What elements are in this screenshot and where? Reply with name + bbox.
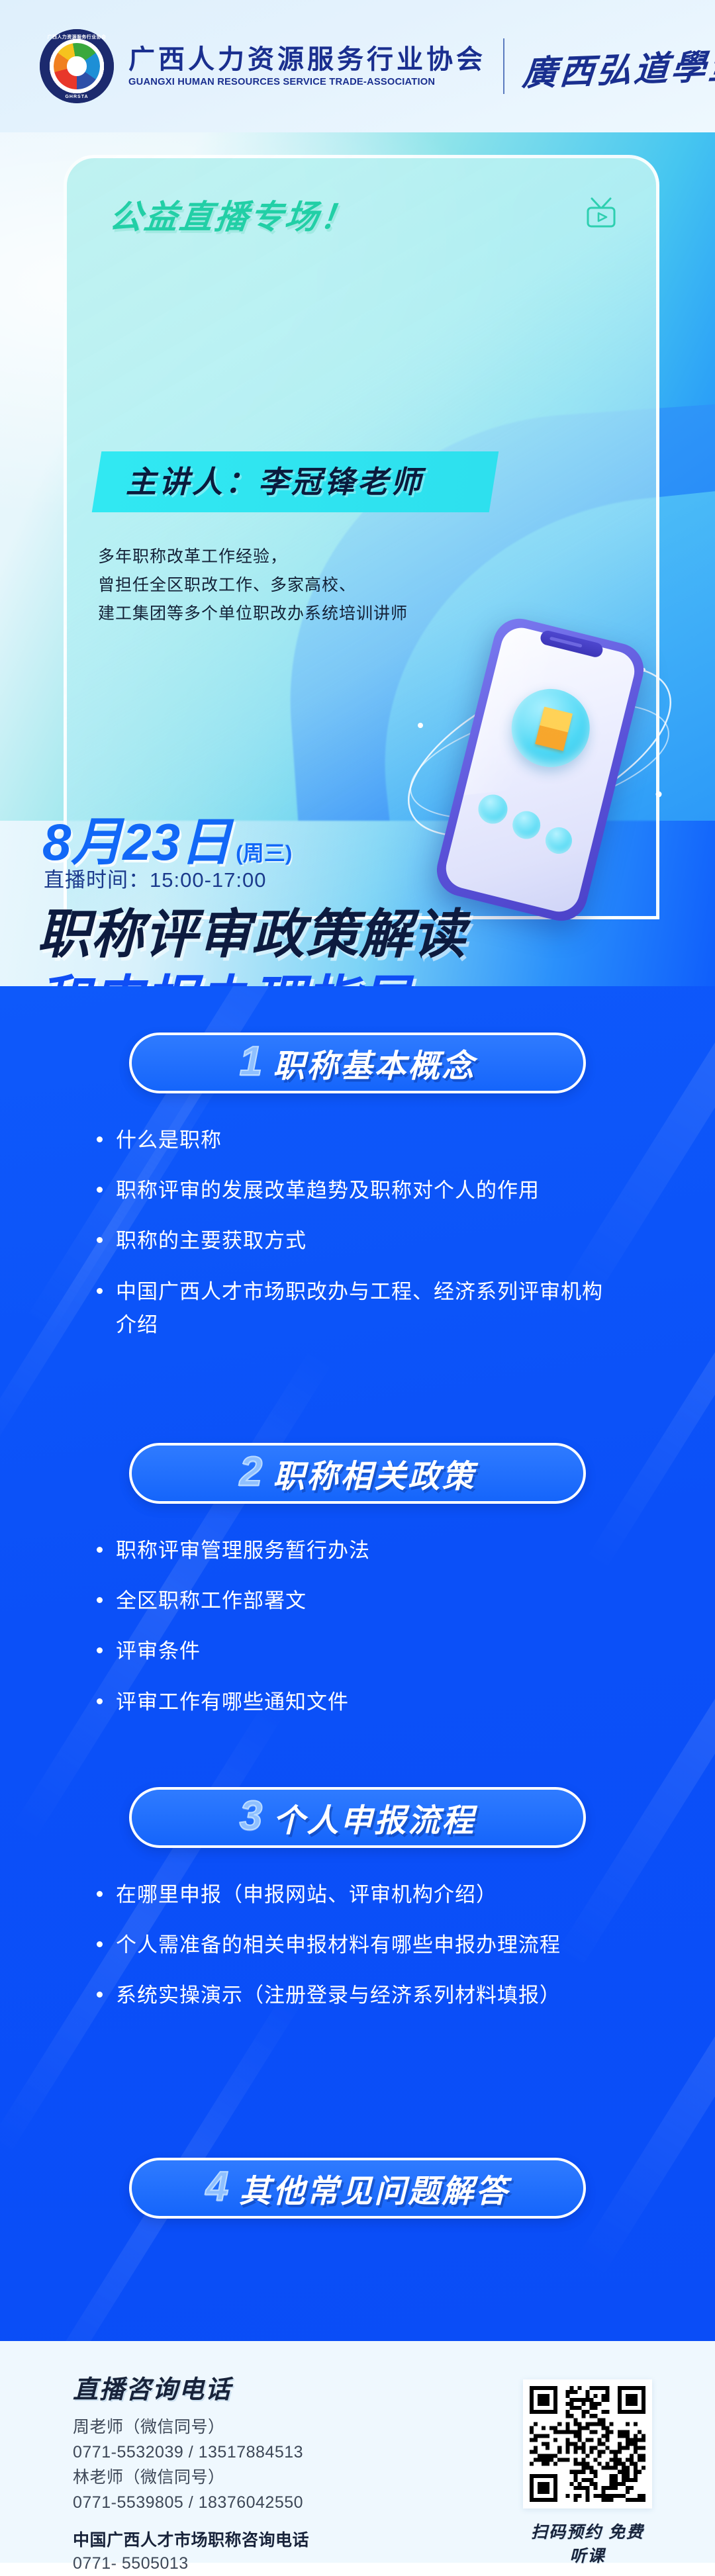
tv-broadcast-icon bbox=[583, 196, 620, 230]
agenda-section: 2职称相关政策职称评审管理服务暂行办法全区职称工作部署文评审条件评审工作有哪些通… bbox=[0, 1443, 715, 1736]
list-item: 什么是职称 bbox=[97, 1124, 629, 1157]
section-header-1[interactable]: 1职称基本概念 bbox=[129, 1033, 586, 1093]
section-bullet-list: 在哪里申报（申报网站、评审机构介绍）个人需准备的相关申报材料有哪些申报办理流程系… bbox=[86, 1878, 629, 2013]
bio-line-2: 曾担任全区职改工作、多家高校、 bbox=[98, 571, 495, 600]
bullet-text: 评审条件 bbox=[116, 1635, 619, 1668]
bullet-text: 职称评审的发展改革趋势及职称对个人的作用 bbox=[116, 1174, 619, 1207]
section-number: 4 bbox=[206, 2166, 228, 2207]
list-item: 职称的主要获取方式 bbox=[97, 1224, 629, 1258]
agenda-section: 4其他常见问题解答 bbox=[0, 2158, 715, 2219]
page-title-line-2: 和申报办理指导 bbox=[37, 972, 699, 986]
bio-line-1: 多年职称改革工作经验， bbox=[98, 543, 495, 571]
logo-ring-bottom-text: GHRSTA bbox=[40, 95, 114, 99]
organization-name-en: GUANGXI HUMAN RESOURCES SERVICE TRADE-AS… bbox=[128, 76, 479, 87]
qr-block: 扫码预约 免费听课 bbox=[523, 2379, 652, 2567]
agenda-section: 1职称基本概念什么是职称职称评审的发展改革趋势及职称对个人的作用职称的主要获取方… bbox=[0, 1033, 715, 1359]
bullet-dot-icon bbox=[97, 1891, 103, 1897]
section-header-3[interactable]: 3个人申报流程 bbox=[129, 1787, 586, 1848]
bullet-dot-icon bbox=[97, 1597, 103, 1603]
bullet-dot-icon bbox=[97, 1941, 103, 1947]
hero-kicker: 公益直播专场！ bbox=[107, 191, 359, 238]
speaker-label: 主讲人：李冠锋老师 bbox=[126, 458, 424, 502]
list-item: 系统实操演示（注册登录与经济系列材料填报） bbox=[97, 1979, 629, 2012]
bullet-text: 个人需准备的相关申报材料有哪些申报办理流程 bbox=[116, 1929, 619, 1962]
bullet-text: 系统实操演示（注册登录与经济系列材料填报） bbox=[116, 1979, 619, 2012]
page-header: 广西人力资源服务行业协会 GHRSTA 广西人力资源服务行业协会 GUANGXI… bbox=[0, 0, 715, 132]
section-bullet-list: 什么是职称职称评审的发展改革趋势及职称对个人的作用职称的主要获取方式中国广西人才… bbox=[86, 1124, 629, 1342]
list-item: 评审条件 bbox=[97, 1635, 629, 1668]
contact-2-phones[interactable]: 0771-5539805 / 18376042550 bbox=[73, 2490, 483, 2515]
bullet-text: 在哪里申报（申报网站、评审机构介绍） bbox=[116, 1878, 619, 1911]
bio-line-3: 建工集团等多个单位职改办系统培训讲师 bbox=[98, 600, 495, 628]
page-title: 职称评审政策解读 和申报办理指导 bbox=[37, 905, 699, 986]
list-item: 全区职称工作部署文 bbox=[97, 1585, 629, 1618]
bullet-dot-icon bbox=[97, 1237, 103, 1243]
section-bullet-list: 职称评审管理服务暂行办法全区职称工作部署文评审条件评审工作有哪些通知文件 bbox=[86, 1534, 629, 1719]
section-number: 3 bbox=[240, 1796, 262, 1837]
logo-ring-top-text: 广西人力资源服务行业协会 bbox=[40, 34, 114, 40]
market-hotline-label: 中国广西人才市场职称咨询电话 bbox=[73, 2527, 483, 2551]
contact-1-name: 周老师（微信同号） bbox=[73, 2415, 483, 2440]
list-item: 评审工作有哪些通知文件 bbox=[97, 1686, 629, 1719]
contact-2-name: 林老师（微信同号） bbox=[73, 2465, 483, 2490]
bullet-text: 职称评审管理服务暂行办法 bbox=[116, 1534, 619, 1567]
agenda-body: 1职称基本概念什么是职称职称评审的发展改革趋势及职称对个人的作用职称的主要获取方… bbox=[0, 986, 715, 2341]
header-divider bbox=[503, 38, 504, 94]
hero-banner: 公益直播专场！ 主讲人：李冠锋老师 多年职称改革工作经验， 曾担任全区职改工作、… bbox=[0, 132, 715, 986]
contact-title: 直播咨询电话 bbox=[73, 2369, 483, 2405]
list-item: 中国广西人才市场职改办与工程、经济系列评审机构介绍 bbox=[97, 1275, 629, 1342]
bullet-text: 什么是职称 bbox=[116, 1124, 619, 1157]
section-number: 1 bbox=[240, 1041, 262, 1082]
bullet-text: 全区职称工作部署文 bbox=[116, 1585, 619, 1618]
list-item: 个人需准备的相关申报材料有哪些申报办理流程 bbox=[97, 1929, 629, 1962]
list-item: 职称评审的发展改革趋势及职称对个人的作用 bbox=[97, 1174, 629, 1207]
bullet-dot-icon bbox=[97, 1288, 103, 1294]
smartphone-play-illustration bbox=[431, 613, 649, 926]
academy-name: 廣西弘道學堂 bbox=[521, 38, 715, 95]
bullet-dot-icon bbox=[97, 1992, 103, 1998]
list-item: 在哪里申报（申报网站、评审机构介绍） bbox=[97, 1878, 629, 1911]
association-logo-icon: 广西人力资源服务行业协会 GHRSTA bbox=[40, 29, 114, 103]
section-title: 其他常见问题解答 bbox=[239, 2165, 509, 2211]
section-title: 职称相关政策 bbox=[273, 1450, 475, 1496]
speaker-bio: 多年职称改革工作经验， 曾担任全区职改工作、多家高校、 建工集团等多个单位职改办… bbox=[98, 543, 495, 628]
broadcast-time: 直播时间：15:00-17:00 bbox=[44, 863, 266, 893]
bullet-dot-icon bbox=[97, 1547, 103, 1553]
section-header-4[interactable]: 4其他常见问题解答 bbox=[129, 2158, 586, 2219]
bullet-dot-icon bbox=[97, 1698, 103, 1704]
bullet-text: 评审工作有哪些通知文件 bbox=[116, 1686, 619, 1719]
section-header-2[interactable]: 2职称相关政策 bbox=[129, 1443, 586, 1504]
bullet-dot-icon bbox=[97, 1647, 103, 1653]
bullet-text: 中国广西人才市场职改办与工程、经济系列评审机构介绍 bbox=[116, 1275, 619, 1342]
contact-1-phones[interactable]: 0771-5532039 / 13517884513 bbox=[73, 2440, 483, 2465]
section-number: 2 bbox=[240, 1451, 262, 1493]
qr-code[interactable] bbox=[523, 2379, 652, 2508]
page-title-line-1: 职称评审政策解读 bbox=[37, 905, 699, 964]
list-item: 职称评审管理服务暂行办法 bbox=[97, 1534, 629, 1567]
page-footer: 直播咨询电话 周老师（微信同号） 0771-5532039 / 13517884… bbox=[0, 2341, 715, 2563]
agenda-section: 3个人申报流程在哪里申报（申报网站、评审机构介绍）个人需准备的相关申报材料有哪些… bbox=[0, 1787, 715, 2030]
contact-block: 直播咨询电话 周老师（微信同号） 0771-5532039 / 13517884… bbox=[73, 2369, 483, 2576]
section-title: 个人申报流程 bbox=[273, 1794, 475, 1841]
bullet-dot-icon bbox=[97, 1187, 103, 1193]
bullet-dot-icon bbox=[97, 1136, 103, 1142]
organization-name-block: 广西人力资源服务行业协会 GUANGXI HUMAN RESOURCES SER… bbox=[128, 46, 486, 87]
organization-name-cn: 广西人力资源服务行业协会 bbox=[128, 46, 486, 73]
bullet-text: 职称的主要获取方式 bbox=[116, 1224, 619, 1258]
section-title: 职称基本概念 bbox=[273, 1040, 475, 1086]
qr-caption: 扫码预约 免费听课 bbox=[523, 2519, 652, 2567]
market-hotline-phone[interactable]: 0771- 5505013 bbox=[73, 2551, 483, 2576]
